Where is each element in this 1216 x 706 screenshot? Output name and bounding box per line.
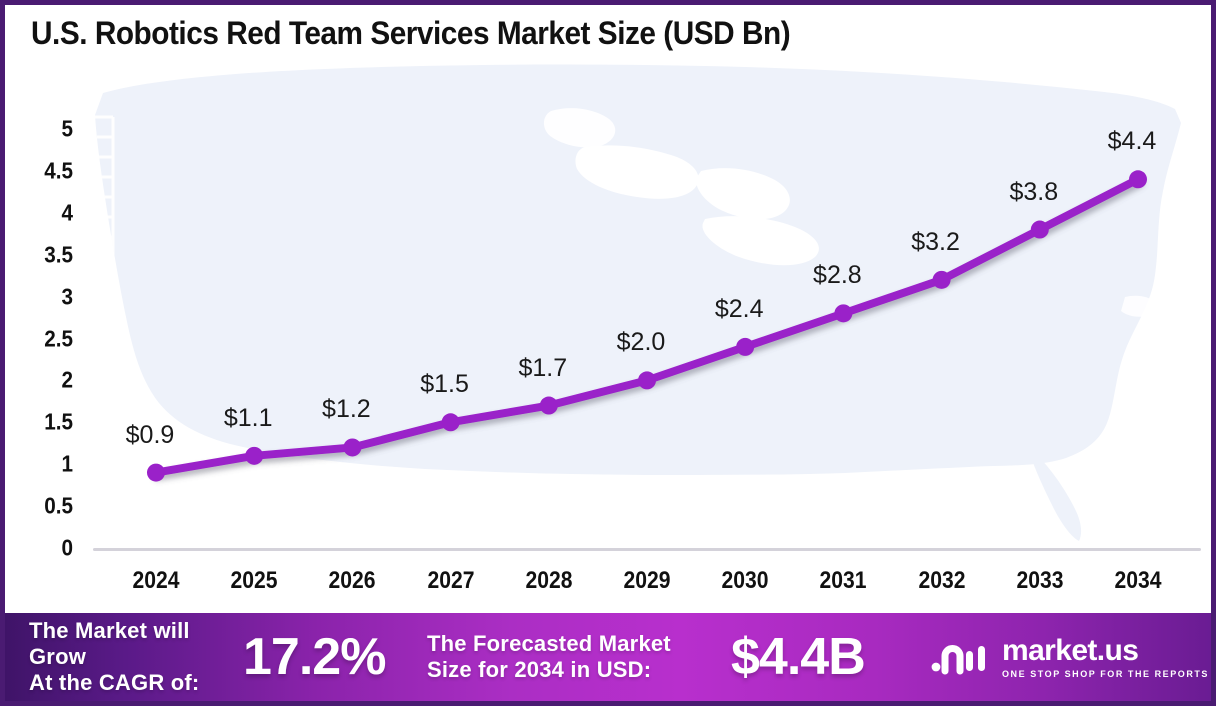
data-point-marker[interactable] (147, 464, 165, 482)
cagr-value: 17.2% (243, 627, 423, 687)
chart-plot-area: 00.511.522.533.544.55 202420252026202720… (5, 51, 1211, 611)
data-point-marker[interactable] (834, 304, 852, 322)
market-us-logo[interactable]: market.us ONE STOP SHOP FOR THE REPORTS (931, 636, 1209, 679)
page-title: U.S. Robotics Red Team Services Market S… (31, 15, 790, 52)
forecast-value: $4.4B (731, 627, 917, 687)
data-point-label: $4.4 (1072, 127, 1192, 156)
forecast-caption: The Forecasted Market Size for 2034 in U… (427, 631, 717, 683)
data-point-marker[interactable] (736, 338, 754, 356)
brand-name: market.us (1002, 636, 1209, 666)
data-point-label: $1.2 (286, 395, 406, 424)
cagr-caption: The Market will Grow At the CAGR of: (29, 618, 229, 696)
data-point-marker[interactable] (245, 447, 263, 465)
series-markers (147, 170, 1147, 481)
data-point-marker[interactable] (343, 438, 361, 456)
brand-text: market.us ONE STOP SHOP FOR THE REPORTS (1002, 636, 1209, 679)
brand-tagline: ONE STOP SHOP FOR THE REPORTS (1002, 670, 1209, 679)
data-point-marker[interactable] (1031, 221, 1049, 239)
data-point-label: $1.7 (483, 354, 603, 383)
data-point-label: $3.8 (974, 178, 1094, 207)
data-point-marker[interactable] (1129, 170, 1147, 188)
data-point-label: $2.8 (777, 261, 897, 290)
data-point-marker[interactable] (638, 371, 656, 389)
data-point-label: $2.0 (581, 328, 701, 357)
market-us-logomark-icon (931, 638, 993, 676)
summary-banner: The Market will Grow At the CAGR of: 17.… (5, 613, 1211, 701)
data-point-label: $3.2 (876, 228, 996, 257)
data-point-label: $2.4 (679, 295, 799, 324)
data-point-marker[interactable] (442, 413, 460, 431)
infographic-card: U.S. Robotics Red Team Services Market S… (0, 0, 1216, 706)
data-point-marker[interactable] (540, 397, 558, 415)
data-point-marker[interactable] (933, 271, 951, 289)
